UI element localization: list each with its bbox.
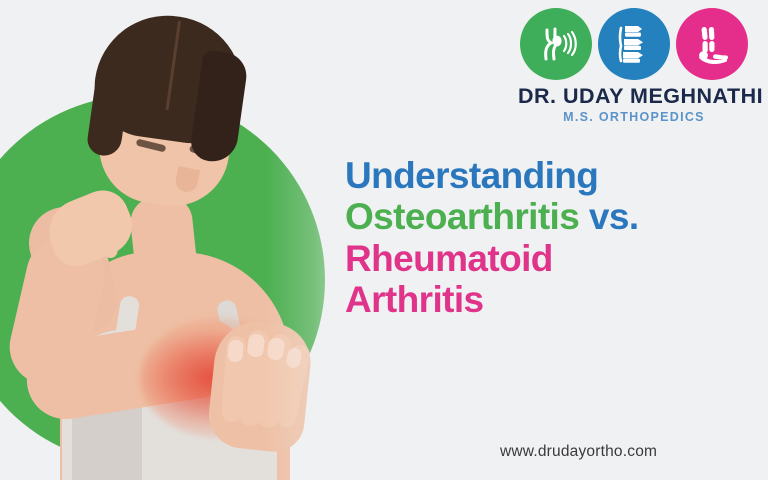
headline-vs xyxy=(579,196,589,237)
knee-joint-badge xyxy=(520,8,592,80)
health-awareness-banner: DR. UDAY MEGHNATHI M.S. ORTHOPEDICS Unde… xyxy=(0,0,768,480)
clinic-logo[interactable]: DR. UDAY MEGHNATHI M.S. ORTHOPEDICS xyxy=(518,8,750,124)
headline-vs-text: vs. xyxy=(589,196,639,237)
logo-icon-row xyxy=(518,8,750,80)
foot-bones-icon xyxy=(689,21,735,67)
patient-photo xyxy=(0,0,340,480)
woman-figure xyxy=(0,0,340,480)
clinic-qualification: M.S. ORTHOPEDICS xyxy=(518,110,750,124)
headline-line-4: Arthritis xyxy=(345,279,755,320)
fingernail xyxy=(227,340,243,363)
headline-line-3: Rheumatoid xyxy=(345,238,755,279)
headline-osteoarthritis: Osteoarthritis xyxy=(345,196,579,237)
headline-block: Understanding Osteoarthritis vs. Rheumat… xyxy=(345,155,755,321)
spine-icon xyxy=(612,21,656,67)
headline-line-2: Osteoarthritis vs. xyxy=(345,196,755,237)
knee-joint-icon xyxy=(533,21,579,67)
foot-bones-badge xyxy=(676,8,748,80)
spine-badge xyxy=(598,8,670,80)
website-url[interactable]: www.drudayortho.com xyxy=(500,443,657,461)
headline-line-1: Understanding xyxy=(345,155,755,196)
clinic-doctor-name: DR. UDAY MEGHNATHI xyxy=(518,84,750,109)
finger xyxy=(103,216,118,258)
